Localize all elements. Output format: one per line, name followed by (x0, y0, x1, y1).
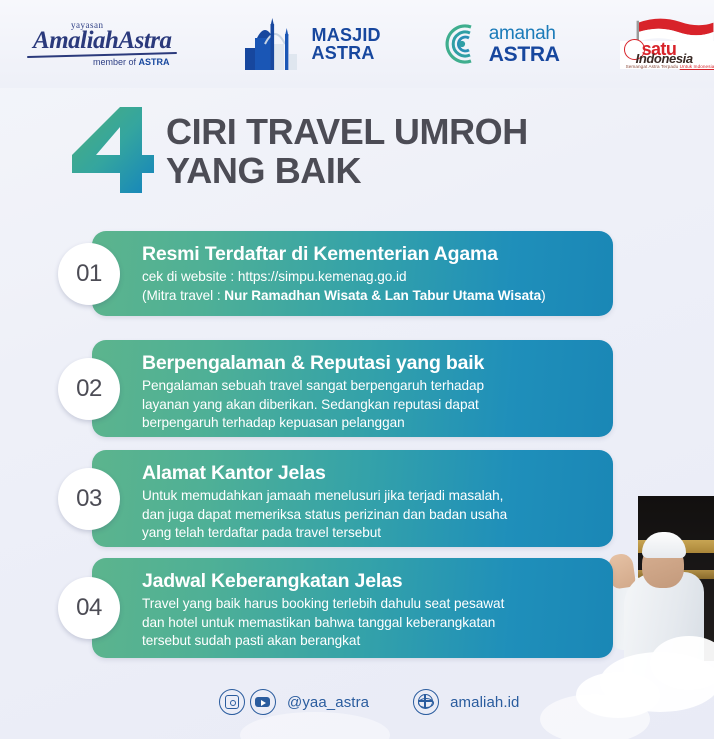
item-title: Berpengalaman & Reputasi yang baik (142, 352, 595, 374)
amaliah-brand-text: AmaliahAstra (18, 28, 187, 53)
amanah-wordmark: amanah ASTRA (489, 24, 560, 65)
amanah-line2: ASTRA (489, 44, 560, 65)
social-handle-label: @yaa_astra (287, 694, 369, 711)
item-description: Untuk memudahkan jamaah menelusuri jika … (142, 487, 595, 541)
item-note-prefix: (Mitra travel : (142, 288, 224, 303)
title-block: CIRI TRAVEL UMROH YANG BAIK (70, 105, 670, 200)
mosque-icon (245, 18, 305, 70)
list-item: 03 Alamat Kantor Jelas Untuk memudahkan … (92, 450, 613, 547)
item-desc-line: yang telah terdaftar pada travel tersebu… (142, 524, 595, 542)
item-desc-line: Untuk memudahkan jamaah menelusuri jika … (142, 487, 595, 505)
item-number-badge: 01 (58, 243, 120, 305)
masjid-line1: MASJID (312, 26, 381, 44)
item-desc-line: dan hotel untuk memastikan bahwa tanggal… (142, 614, 595, 632)
item-content: Alamat Kantor Jelas Untuk memudahkan jam… (92, 450, 613, 554)
item-content: Berpengalaman & Reputasi yang baik Penga… (92, 340, 613, 444)
title-line-1: CIRI TRAVEL UMROH (166, 111, 528, 152)
item-content: Resmi Terdaftar di Kementerian Agama cek… (92, 231, 613, 317)
amanah-line1: amanah (489, 24, 560, 43)
list-item: 01 Resmi Terdaftar di Kementerian Agama … (92, 231, 613, 316)
item-desc-line: berpengaruh terhadap kepuasan pelanggan (142, 414, 595, 432)
item-description: cek di website : https://simpu.kemenag.g… (142, 268, 595, 304)
item-note-suffix: ) (541, 288, 545, 303)
website-label: amaliah.id (450, 694, 519, 711)
instagram-dot (230, 700, 236, 706)
page-title: CIRI TRAVEL UMROH YANG BAIK (166, 113, 706, 190)
item-number-badge: 03 (58, 468, 120, 530)
list-item: 02 Berpengalaman & Reputasi yang baik Pe… (92, 340, 613, 437)
item-desc-line: layanan yang akan diberikan. Sedangkan r… (142, 396, 595, 414)
item-desc-line: Pengalaman sebuah travel sangat berpenga… (142, 377, 595, 395)
satu-tagline-a: Semangat Astra Terpadu (626, 64, 680, 69)
item-note-bold: Nur Ramadhan Wisata & Lan Tabur Utama Wi… (224, 288, 541, 303)
instagram-icon[interactable] (219, 689, 245, 715)
globe-icon[interactable] (413, 689, 439, 715)
item-desc-line: Travel yang baik harus booking terlebih … (142, 595, 595, 613)
website-group: amaliah.id (413, 689, 519, 715)
item-title: Resmi Terdaftar di Kementerian Agama (142, 243, 595, 265)
logo-bar: yayasan AmaliahAstra member of ASTRA (0, 0, 714, 88)
list-item: 04 Jadwal Keberangkatan Jelas Travel yan… (92, 558, 613, 658)
globe-ellipse (418, 698, 434, 708)
amanah-astra-logo: amanah ASTRA (441, 23, 560, 65)
item-description: Travel yang baik harus booking terlebih … (142, 595, 595, 649)
item-desc-line: cek di website : https://simpu.kemenag.g… (142, 268, 595, 286)
youtube-play-triangle (261, 700, 266, 706)
item-desc-line: tersebut sudah pasti akan berangkat (142, 632, 595, 650)
footer-bar: @yaa_astra amaliah.id (0, 678, 714, 726)
masjid-line2: ASTRA (312, 44, 381, 62)
masjid-astra-wordmark: MASJID ASTRA (312, 26, 381, 63)
title-line-2: YANG BAIK (166, 152, 706, 191)
social-group: @yaa_astra (219, 689, 369, 715)
amaliah-member-text: member of ASTRA (76, 58, 187, 67)
amaliah-astra-logo: yayasan AmaliahAstra member of ASTRA (18, 21, 187, 68)
item-number-badge: 04 (58, 577, 120, 639)
item-content: Jadwal Keberangkatan Jelas Travel yang b… (92, 558, 613, 662)
item-number-badge: 02 (58, 358, 120, 420)
big-number-four (70, 105, 156, 195)
item-note-line: (Mitra travel : Nur Ramadhan Wisata & La… (142, 287, 595, 305)
satu-tagline: Semangat Astra Terpadu Untuk Indonesia (626, 64, 714, 69)
youtube-icon[interactable] (250, 689, 276, 715)
item-title: Alamat Kantor Jelas (142, 462, 595, 484)
satu-tagline-b: Untuk Indonesia (680, 64, 714, 69)
pilgrim-cap (642, 532, 686, 558)
amaliah-member-prefix: member of (93, 57, 139, 67)
item-description: Pengalaman sebuah travel sangat berpenga… (142, 377, 595, 431)
masjid-astra-logo: MASJID ASTRA (245, 18, 381, 70)
infographic-poster: yayasan AmaliahAstra member of ASTRA (0, 0, 714, 739)
satu-indonesia-logo: satu Indonesia Semangat Astra Terpadu Un… (616, 15, 714, 73)
amanah-swirl-icon (441, 23, 483, 65)
item-title: Jadwal Keberangkatan Jelas (142, 570, 595, 592)
item-desc-line: dan juga dapat memeriksa status perizina… (142, 506, 595, 524)
amaliah-member-brand: ASTRA (139, 57, 170, 67)
